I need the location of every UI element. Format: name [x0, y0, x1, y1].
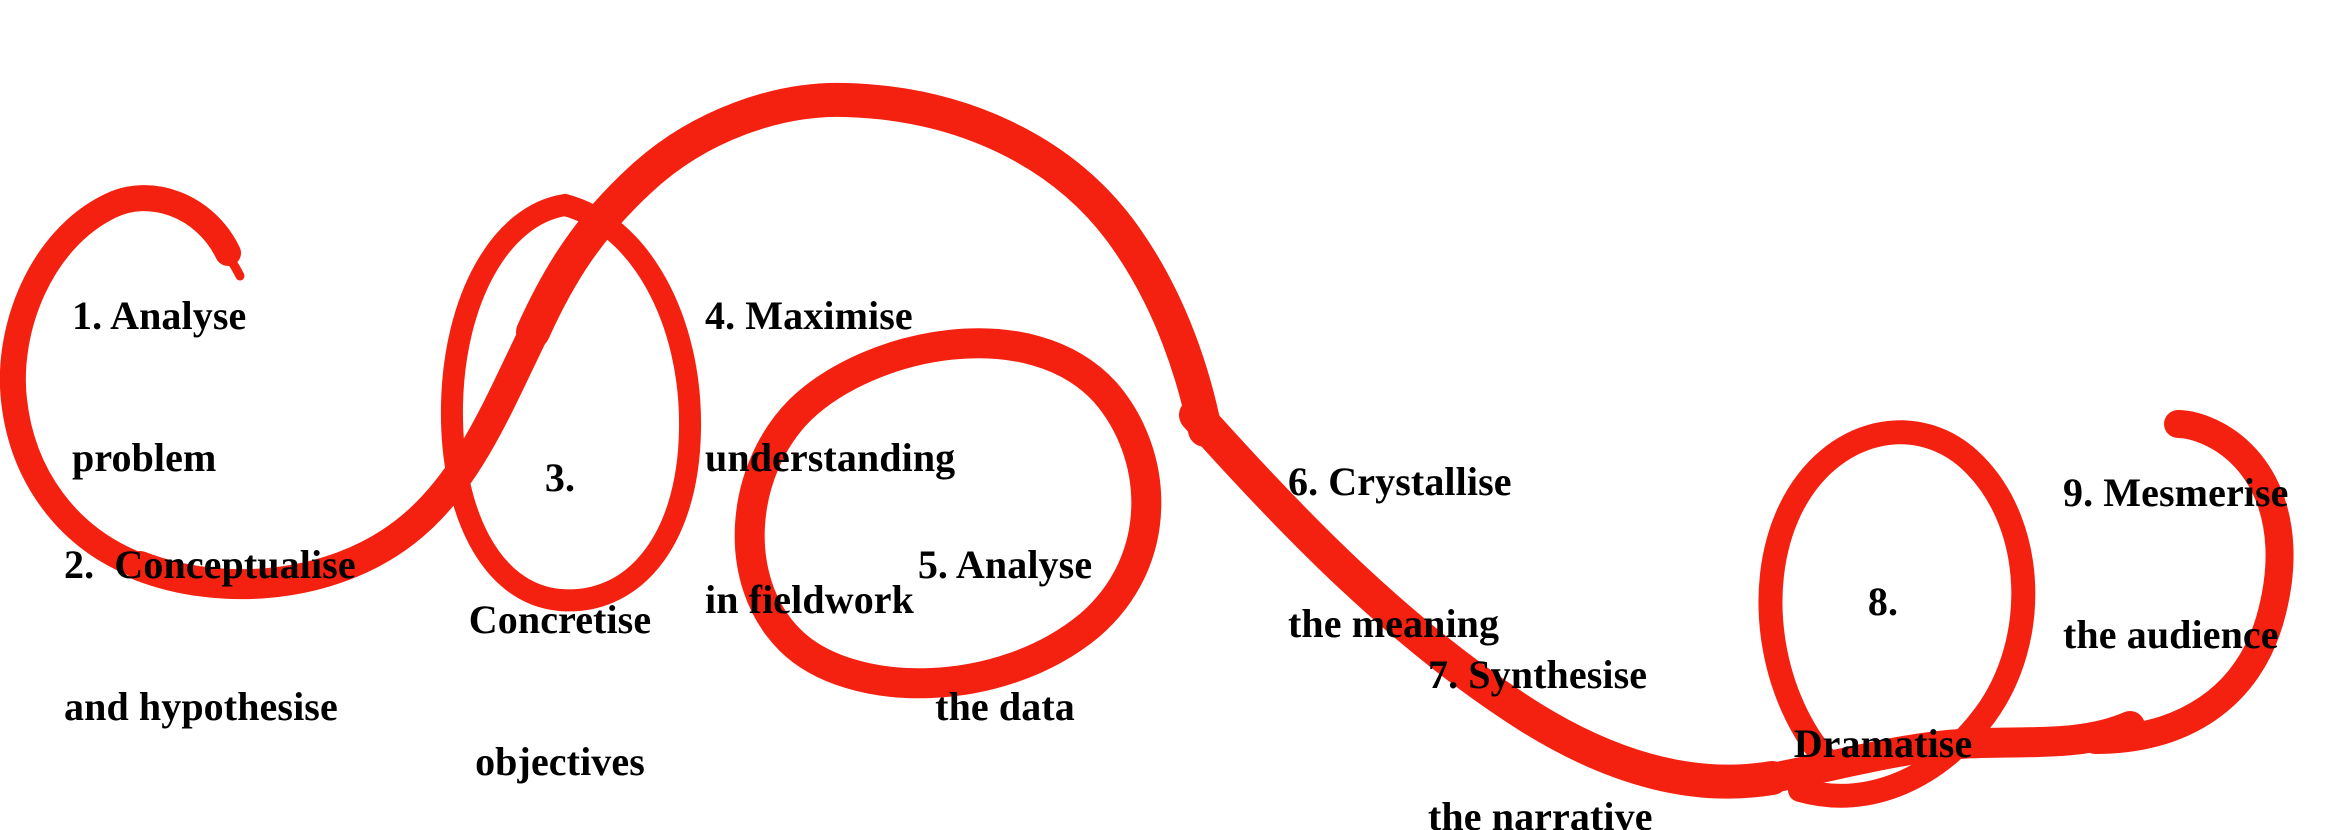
step-7-line-1: 7. Synthesise — [1428, 651, 1653, 698]
step-2-conceptualise-and-hypothesise: 2. Conceptualise and hypothesise — [64, 447, 356, 825]
step-5-line-2: the data — [880, 683, 1130, 730]
step-9-line-2: the audience — [2063, 611, 2289, 658]
step-6-line-1: 6. Crystallise — [1288, 458, 1512, 505]
step-1-line-1: 1. Analyse — [72, 292, 246, 339]
step-9-line-1: 9. Mesmerise — [2063, 469, 2289, 516]
step-9-mesmerise-the-audience: 9. Mesmerise the audience — [2063, 375, 2289, 753]
step-3-line-3: objectives — [455, 738, 665, 785]
step-2-line-2: and hypothesise — [64, 683, 356, 730]
step-7-synthesise-the-narrative: 7. Synthesise the narrative — [1428, 557, 1653, 830]
step-5-line-1: 5. Analyse — [880, 541, 1130, 588]
step-8-line-2: Dramatise — [1778, 720, 1988, 767]
step-5-analyse-the-data: 5. Analyse the data — [880, 447, 1130, 825]
step-2-line-1: 2. Conceptualise — [64, 541, 356, 588]
diagram-canvas: 1. Analyse problem 2. Conceptualise and … — [0, 0, 2335, 830]
step-8-line-1: 8. — [1778, 578, 1988, 625]
step-3-line-2: Concretise — [455, 596, 665, 643]
step-3-concretise-objectives: 3. Concretise objectives — [455, 360, 665, 830]
step-3-line-1: 3. — [455, 454, 665, 501]
step-7-line-2: the narrative — [1428, 793, 1653, 830]
step-8-dramatise-the-story: 8. Dramatise the story — [1778, 484, 1988, 830]
step-4-line-1: 4. Maximise — [705, 292, 955, 339]
